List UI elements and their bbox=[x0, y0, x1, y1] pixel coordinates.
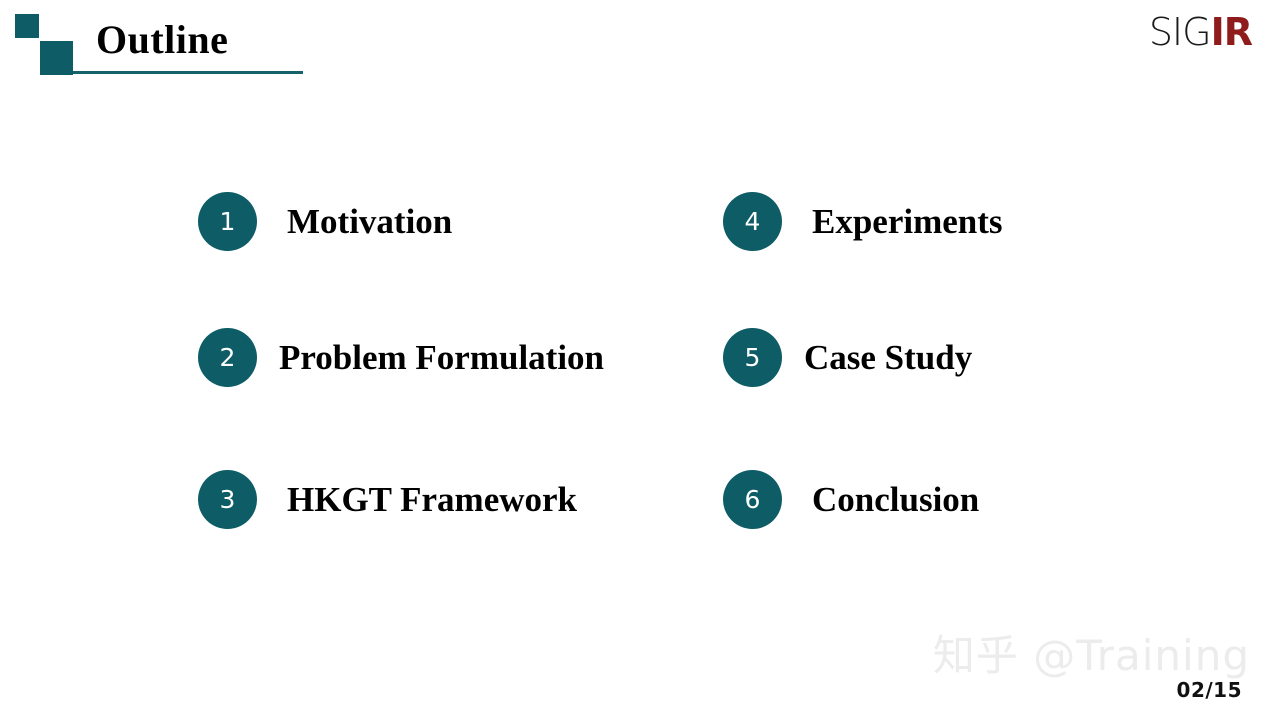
outline-number-badge: 6 bbox=[723, 470, 782, 529]
outline-number-badge: 2 bbox=[198, 328, 257, 387]
outline-number-badge: 5 bbox=[723, 328, 782, 387]
outline-number-badge: 4 bbox=[723, 192, 782, 251]
outline-item-label: Conclusion bbox=[812, 480, 979, 520]
outline-item-label: Case Study bbox=[804, 338, 972, 378]
outline-item-experiments[interactable]: 4 Experiments bbox=[723, 192, 1003, 251]
outline-item-case-study[interactable]: 5 Case Study bbox=[723, 328, 972, 387]
outline-list: 1 Motivation 2 Problem Formulation 3 HKG… bbox=[0, 0, 1280, 720]
outline-item-hkgt-framework[interactable]: 3 HKGT Framework bbox=[198, 470, 577, 529]
outline-number-badge: 1 bbox=[198, 192, 257, 251]
page-number: 02/15 bbox=[1177, 678, 1242, 702]
outline-item-label: Motivation bbox=[287, 202, 452, 242]
outline-item-label: Problem Formulation bbox=[279, 338, 604, 378]
slide-root: Outline SIGIR 1 Motivation 2 Problem For… bbox=[0, 0, 1280, 720]
outline-item-conclusion[interactable]: 6 Conclusion bbox=[723, 470, 979, 529]
outline-number-badge: 3 bbox=[198, 470, 257, 529]
outline-item-motivation[interactable]: 1 Motivation bbox=[198, 192, 452, 251]
outline-item-label: HKGT Framework bbox=[287, 480, 577, 520]
outline-item-problem-formulation[interactable]: 2 Problem Formulation bbox=[198, 328, 604, 387]
outline-item-label: Experiments bbox=[812, 202, 1003, 242]
watermark: 知乎 @Training bbox=[933, 632, 1250, 680]
